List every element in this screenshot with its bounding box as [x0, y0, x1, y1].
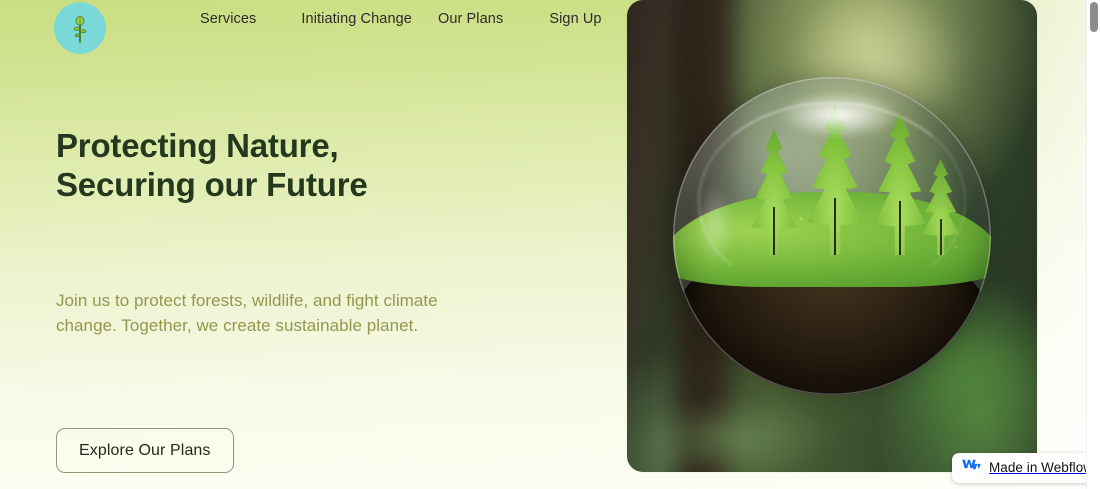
nav-item-sign-up[interactable]: Sign Up	[549, 9, 601, 29]
nav-item-initiating-change[interactable]: Initiating Change	[301, 9, 412, 29]
made-in-webflow-label: Made in Webflow	[989, 461, 1090, 475]
hero-subtitle: Join us to protect forests, wildlife, an…	[56, 288, 536, 338]
hero-subtitle-line-2: change. Together, we create sustainable …	[56, 313, 536, 338]
vertical-scrollbar-thumb[interactable]	[1090, 2, 1098, 32]
nav-links: Services Initiating Change Our Plans Sig…	[200, 9, 602, 29]
explore-our-plans-button[interactable]: Explore Our Plans	[56, 428, 234, 473]
forest-background-photo	[627, 0, 1037, 472]
site-navbar: Services Initiating Change Our Plans Sig…	[0, 0, 1090, 56]
hero-image	[627, 0, 1037, 472]
webflow-logo-icon	[962, 459, 981, 478]
glass-rim	[673, 77, 991, 395]
blurred-mossy-ground	[627, 387, 865, 472]
hero-copy: Protecting Nature, Securing our Future J…	[56, 0, 596, 489]
made-in-webflow-badge[interactable]: Made in Webflow	[952, 453, 1090, 483]
page-title-line-2: Securing our Future	[56, 165, 576, 204]
site-logo[interactable]	[54, 2, 106, 54]
page-title: Protecting Nature, Securing our Future	[56, 126, 576, 204]
glass-sphere-terrarium	[673, 77, 991, 395]
vertical-scrollbar-track[interactable]	[1086, 0, 1100, 489]
page-canvas: Services Initiating Change Our Plans Sig…	[0, 0, 1090, 489]
page-title-line-1: Protecting Nature,	[56, 126, 576, 165]
plant-sprout-icon	[67, 13, 93, 43]
nav-item-our-plans[interactable]: Our Plans	[438, 9, 503, 29]
hero-subtitle-line-1: Join us to protect forests, wildlife, an…	[56, 288, 536, 313]
nav-item-services[interactable]: Services	[200, 9, 256, 29]
